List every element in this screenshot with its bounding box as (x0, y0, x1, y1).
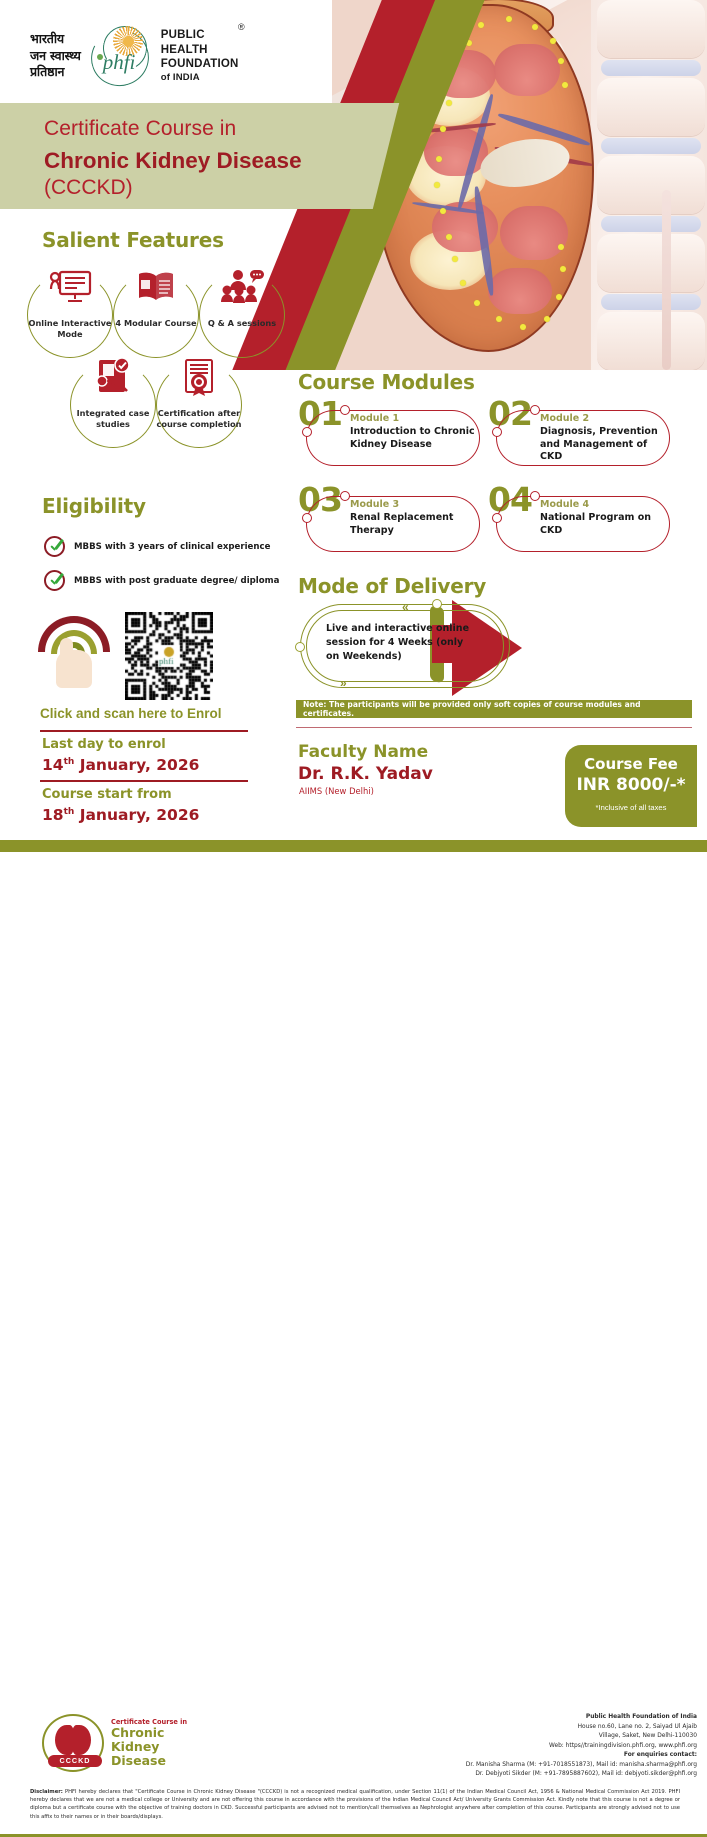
feature-label: Certification aftercourse completion (150, 408, 248, 430)
scan-to-enrol-label: Click and scan here to Enrol (40, 706, 222, 721)
feature-label: 4 Modular Course (107, 318, 205, 329)
course-title-line2: Chronic Kidney Disease (44, 148, 302, 174)
note-banner: Note: The participants will be provided … (296, 700, 692, 718)
poster-root: भारतीय जन स्वास्थ्य प्रतिष्ठान phfi PUBL… (0, 0, 707, 1000)
case-study-checklist-icon (91, 358, 135, 398)
contact-web: Web: https//trainingdivision.phfi.org, w… (397, 1742, 697, 1752)
tap-hand-signal-icon (38, 610, 112, 686)
kidney-logo-icon: CCCKD (42, 1714, 104, 1772)
course-title-line3: (CCCKD) (44, 176, 133, 200)
eligibility-text: MBBS with 3 years of clinical experience (74, 542, 270, 552)
module-card-04: 04 Module 4 National Program on CKD (488, 482, 670, 560)
check-circle-icon (44, 536, 65, 557)
connector-dot-icon (432, 599, 442, 609)
last-day-label: Last day to enrol (42, 737, 166, 752)
spine-shape (591, 0, 707, 370)
course-start-value: 18th January, 2026 (42, 806, 199, 824)
ccckd-logo-text: Certificate Course in Chronic Kidney Dis… (111, 1718, 187, 1767)
module-card-01: 01 Module 1 Introduction to Chronic Kidn… (298, 396, 480, 474)
chevron-right-icon: » (340, 676, 347, 690)
eligibility-item: MBBS with 3 years of clinical experience (44, 536, 270, 557)
contact-address-2: Village, Saket, New Delhi-110030 (397, 1732, 697, 1742)
module-title: Diagnosis, Prevention and Management of … (540, 426, 666, 464)
connector-dot-icon (492, 513, 502, 523)
feature-label: Online InteractiveMode (21, 318, 119, 340)
feature-4-modular-course: 4 Modular Course (113, 272, 199, 358)
footer: CCCKD Certificate Course in Chronic Kidn… (0, 852, 707, 1000)
module-title: National Program on CKD (540, 512, 666, 537)
enrol-qr-code[interactable] (125, 612, 213, 700)
divider (40, 780, 248, 782)
contact-enquiries-label: For enquiries contact: (397, 1751, 697, 1761)
registered-trademark-icon: ® (238, 22, 245, 32)
disclaimer-block: Disclaimer: PHFI hereby declares that "C… (30, 1788, 680, 1821)
footer-divider-bar (0, 840, 707, 852)
module-label: Module 3 (350, 499, 399, 510)
eligibility-item: MBBS with post graduate degree/ diploma (44, 570, 279, 591)
course-modules-heading: Course Modules (298, 370, 475, 394)
course-fee-card: Course Fee INR 8000/-* *Inclusive of all… (565, 745, 697, 827)
phfi-hindi-text: भारतीय जन स्वास्थ्य प्रतिष्ठान (30, 31, 81, 81)
ccckd-badge: CCCKD (48, 1755, 102, 1767)
mode-of-delivery-heading: Mode of Delivery (298, 574, 486, 598)
phfi-name-text: PUBLIC HEALTH FOUNDATION of INDIA (161, 28, 239, 84)
last-day-value: 14th January, 2026 (42, 756, 199, 774)
certificate-seal-icon (179, 358, 219, 398)
note-text: Note: The participants will be provided … (296, 700, 692, 718)
monitor-presentation-icon (48, 268, 92, 308)
module-title: Introduction to Chronic Kidney Disease (350, 426, 476, 451)
contact-address-1: House no.60, Lane no. 2, Saiyad Ul Ajaib (397, 1723, 697, 1733)
faculty-heading: Faculty Name (298, 742, 428, 762)
course-title-line1: Certificate Course in (44, 117, 236, 141)
module-label: Module 1 (350, 413, 399, 424)
module-card-02: 02 Module 2 Diagnosis, Prevention and Ma… (488, 396, 670, 474)
phfi-emblem-icon: phfi (89, 24, 153, 88)
module-card-03: 03 Module 3 Renal Replacement Therapy (298, 482, 480, 560)
connector-dot-icon (530, 491, 540, 501)
course-fee-note: *Inclusive of all taxes (565, 803, 697, 812)
mode-of-delivery-card: Live and interactive online session for … (300, 604, 510, 688)
module-title: Renal Replacement Therapy (350, 512, 476, 537)
mode-of-delivery-text: Live and interactive online session for … (326, 622, 474, 663)
connector-dot-icon (530, 405, 540, 415)
contact-person-2: Dr. Debjyoti Sikder (M: +91-7895887602),… (397, 1770, 697, 1780)
connector-dot-icon (302, 513, 312, 523)
feature-online-interactive-mode: Online InteractiveMode (27, 272, 113, 358)
phfi-wordmark: phfi (103, 50, 136, 75)
salient-features-heading: Salient Features (42, 228, 224, 252)
ureter-shape (662, 190, 671, 370)
disclaimer-lead: Disclaimer: (30, 1789, 63, 1795)
contact-person-1: Dr. Manisha Sharma (M: +91-7018551873), … (397, 1761, 697, 1771)
feature-label: Integrated casestudies (64, 408, 162, 430)
eligibility-heading: Eligibility (42, 494, 146, 518)
people-speech-bubble-icon (219, 268, 265, 308)
faculty-name: Dr. R.K. Yadav (298, 764, 433, 784)
check-circle-icon (44, 570, 65, 591)
feature-label: Q & A sessions (193, 318, 291, 329)
contact-block: Public Health Foundation of India House … (397, 1713, 697, 1780)
connector-dot-icon (302, 427, 312, 437)
module-label: Module 2 (540, 413, 589, 424)
feature-integrated-case-studies: Integrated casestudies (70, 362, 156, 448)
divider (40, 730, 248, 732)
connector-dot-icon (295, 642, 305, 652)
chevron-left-icon: « (402, 600, 409, 614)
phfi-logo: भारतीय जन स्वास्थ्य प्रतिष्ठान phfi PUBL… (30, 24, 239, 88)
feature-certification: Certification aftercourse completion (156, 362, 242, 448)
open-book-icon (135, 268, 177, 308)
faculty-affiliation: AIIMS (New Delhi) (299, 786, 374, 796)
course-start-label: Course start from (42, 787, 172, 802)
course-fee-value: INR 8000/-* (565, 775, 697, 795)
ccckd-logo: CCCKD Certificate Course in Chronic Kidn… (42, 1714, 187, 1772)
connector-dot-icon (340, 405, 350, 415)
contact-org: Public Health Foundation of India (397, 1713, 697, 1723)
divider (296, 727, 692, 728)
disclaimer-body: PHFI hereby declares that "Certificate C… (30, 1789, 680, 1820)
eligibility-text: MBBS with post graduate degree/ diploma (74, 576, 279, 586)
connector-dot-icon (340, 491, 350, 501)
course-fee-title: Course Fee (565, 755, 697, 773)
module-label: Module 4 (540, 499, 589, 510)
feature-qa-sessions: Q & A sessions (199, 272, 285, 358)
connector-dot-icon (492, 427, 502, 437)
